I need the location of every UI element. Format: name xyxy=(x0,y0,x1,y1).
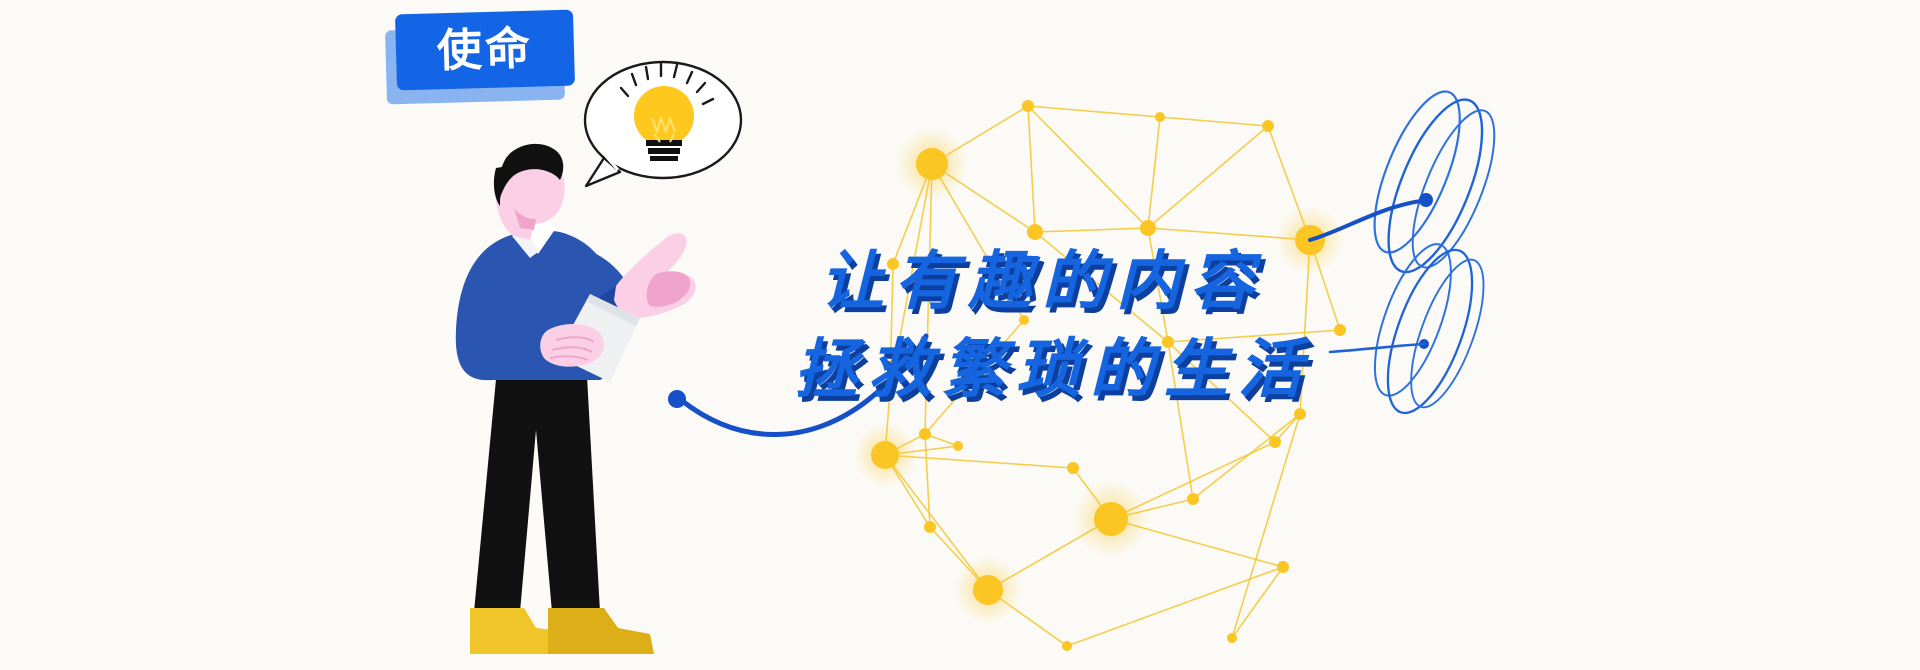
headline-line-2: 拯救繁琐的生活 xyxy=(794,338,1312,404)
mission-badge-body[interactable]: 使命 xyxy=(395,10,575,91)
headline-line-1: 让有趣的内容 xyxy=(820,250,1312,316)
headline-block: 让有趣的内容 拯救繁琐的生活 xyxy=(820,250,1312,404)
mission-banner: 使命 让有趣的内容 拯救繁琐的生活 xyxy=(0,0,1920,670)
mission-badge-label: 使命 xyxy=(436,25,533,73)
mission-badge[interactable]: 使命 xyxy=(386,12,576,106)
